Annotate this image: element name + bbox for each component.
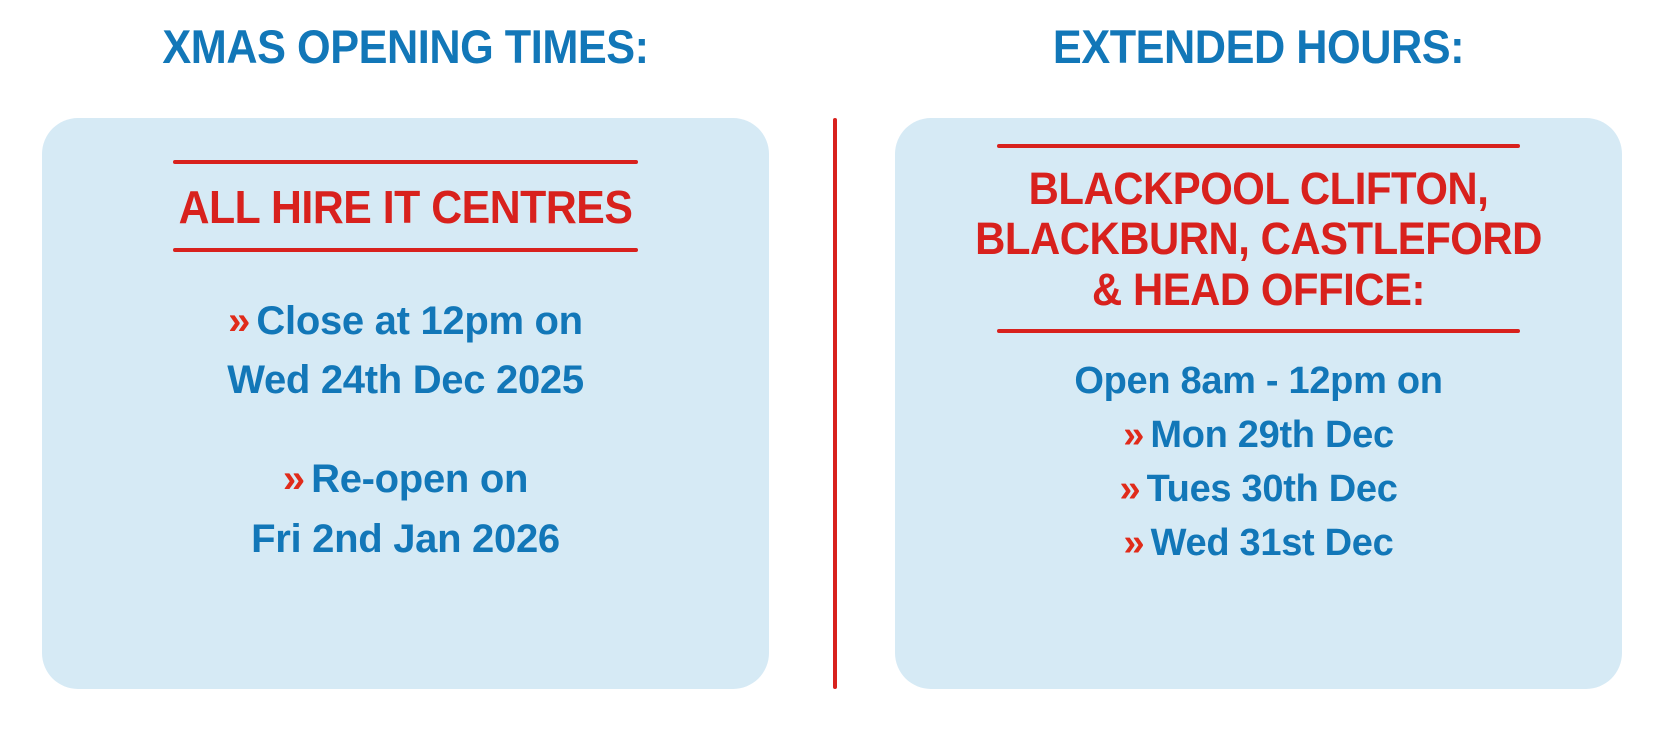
body-line-text: Mon 29th Dec bbox=[1150, 414, 1393, 456]
poster-root: XMAS OPENING TIMES: ALL HIRE IT CENTRES … bbox=[0, 0, 1667, 729]
spacer bbox=[42, 252, 769, 292]
body-line-reopen-date: Fri 2nd Jan 2026 bbox=[42, 510, 769, 569]
body-line-text: Re-open on bbox=[311, 457, 528, 501]
heading-line: BLACKBURN, CASTLEFORD bbox=[920, 214, 1596, 264]
body-line-close-date: Wed 24th Dec 2025 bbox=[42, 351, 769, 410]
body-line-text: Fri 2nd Jan 2026 bbox=[251, 517, 560, 561]
chevron-icon: » bbox=[283, 457, 304, 501]
body-line-text: Wed 24th Dec 2025 bbox=[227, 358, 584, 402]
card-xmas-opening-times: ALL HIRE IT CENTRES »Close at 12pm on We… bbox=[42, 118, 769, 689]
spacer bbox=[895, 333, 1622, 355]
card-body-extended: Open 8am - 12pm on »Mon 29th Dec »Tues 3… bbox=[895, 333, 1622, 571]
body-line-text: Tues 30th Dec bbox=[1147, 468, 1398, 510]
card-extended-hours: BLACKPOOL CLIFTON, BLACKBURN, CASTLEFORD… bbox=[895, 118, 1622, 689]
card-heading-branches: BLACKPOOL CLIFTON, BLACKBURN, CASTLEFORD… bbox=[920, 148, 1596, 329]
body-line-close: »Close at 12pm on bbox=[42, 292, 769, 351]
column-title-extended-hours: EXTENDED HOURS: bbox=[924, 22, 1593, 71]
chevron-icon: » bbox=[228, 299, 249, 343]
heading-line: & HEAD OFFICE: bbox=[920, 265, 1596, 315]
card-heading-all-hire-it-centres: ALL HIRE IT CENTRES bbox=[67, 164, 743, 248]
body-line-tues-30: »Tues 30th Dec bbox=[895, 463, 1622, 517]
card-content-extended: BLACKPOOL CLIFTON, BLACKBURN, CASTLEFORD… bbox=[895, 118, 1622, 571]
card-body-xmas: »Close at 12pm on Wed 24th Dec 2025 »Re-… bbox=[42, 252, 769, 569]
body-line-open-hours: Open 8am - 12pm on bbox=[895, 355, 1622, 409]
spacer bbox=[42, 410, 769, 450]
body-line-text: Open 8am - 12pm on bbox=[1074, 360, 1442, 402]
body-line-text: Wed 31st Dec bbox=[1151, 522, 1394, 564]
heading-line: BLACKPOOL CLIFTON, bbox=[920, 164, 1596, 214]
body-line-wed-31: »Wed 31st Dec bbox=[895, 517, 1622, 571]
card-content-xmas: ALL HIRE IT CENTRES »Close at 12pm on We… bbox=[42, 118, 769, 569]
body-line-text: Close at 12pm on bbox=[256, 299, 582, 343]
column-title-xmas-opening-times: XMAS OPENING TIMES: bbox=[71, 22, 740, 71]
chevron-icon: » bbox=[1124, 522, 1144, 564]
body-line-mon-29: »Mon 29th Dec bbox=[895, 409, 1622, 463]
chevron-icon: » bbox=[1123, 414, 1143, 456]
heading-line: ALL HIRE IT CENTRES bbox=[67, 184, 743, 230]
chevron-icon: » bbox=[1119, 468, 1139, 510]
vertical-divider bbox=[833, 118, 837, 689]
body-line-reopen: »Re-open on bbox=[42, 450, 769, 509]
